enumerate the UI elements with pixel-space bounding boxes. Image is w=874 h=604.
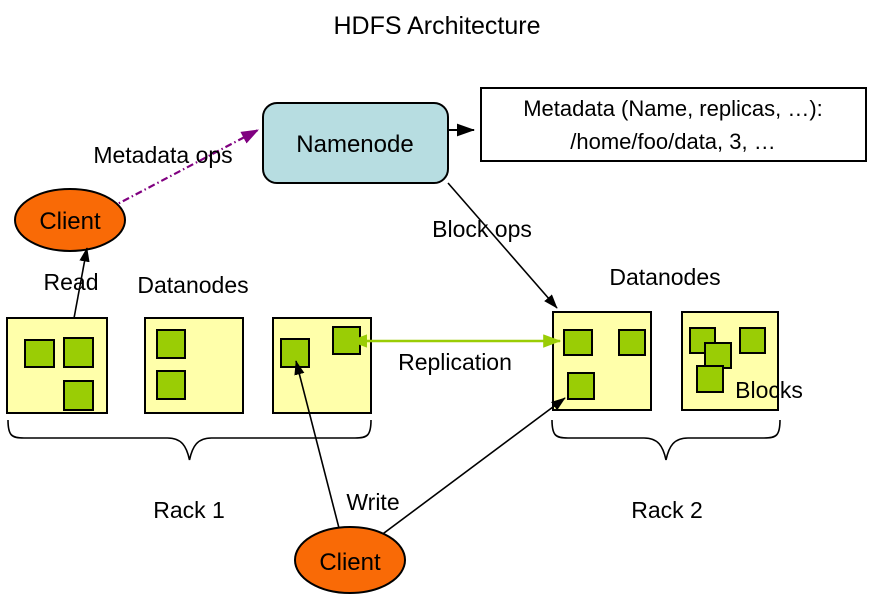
rack-label: Rack 1 <box>153 497 225 523</box>
block[interactable] <box>281 339 309 367</box>
write-label: Write <box>346 489 399 515</box>
namenode-label: Namenode <box>296 131 413 158</box>
datanodes-right-label: Datanodes <box>609 264 720 290</box>
block[interactable] <box>157 371 185 399</box>
metadata-line-1: Metadata (Name, replicas, …): <box>523 96 823 121</box>
client-top-node[interactable]: Client <box>15 189 125 251</box>
rack-label: Rack 2 <box>631 497 703 523</box>
replication-label: Replication <box>398 349 512 375</box>
metadata-box: Metadata (Name, replicas, …): /home/foo/… <box>481 88 866 161</box>
block-ops-label: Block ops <box>432 216 532 242</box>
datanodes-left-label: Datanodes <box>137 272 248 298</box>
datanode-dn3[interactable] <box>273 318 371 413</box>
block[interactable] <box>564 330 592 355</box>
block[interactable] <box>740 328 765 353</box>
client-top-label: Client <box>39 208 101 235</box>
metadata-line-2: /home/foo/data, 3, … <box>570 129 775 154</box>
block[interactable] <box>568 373 594 399</box>
block[interactable] <box>705 343 731 368</box>
namenode-node[interactable]: Namenode <box>263 103 448 183</box>
page-title: HDFS Architecture <box>333 12 540 40</box>
client-bottom-node[interactable]: Client <box>295 527 405 593</box>
read-label: Read <box>44 269 99 295</box>
block[interactable] <box>25 340 54 367</box>
block[interactable] <box>333 327 360 354</box>
block[interactable] <box>157 330 185 358</box>
block[interactable] <box>697 366 723 392</box>
blocks-label: Blocks <box>735 377 803 403</box>
datanode-dn2[interactable] <box>145 318 243 413</box>
block[interactable] <box>64 338 93 367</box>
metadata-ops-label: Metadata ops <box>93 142 232 168</box>
block[interactable] <box>619 330 645 355</box>
block[interactable] <box>64 381 93 410</box>
client-bottom-label: Client <box>319 549 381 576</box>
hdfs-architecture-diagram: HDFS Architecture Metadata (Name, replic… <box>0 0 874 604</box>
datanode-dn4[interactable] <box>553 312 651 410</box>
datanode-dn1[interactable] <box>7 318 107 413</box>
